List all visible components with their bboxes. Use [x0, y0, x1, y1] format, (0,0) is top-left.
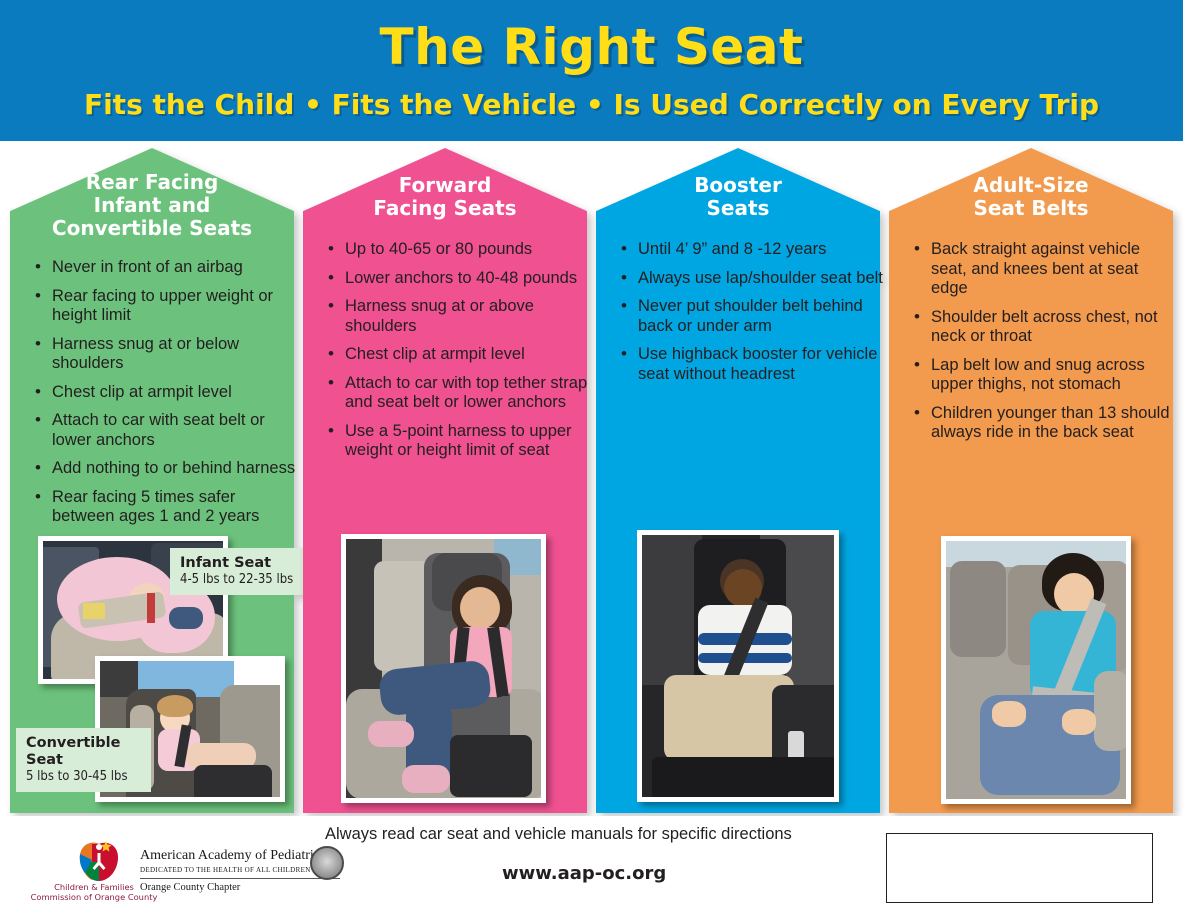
header-banner: The Right Seat Fits the Child • Fits the…	[0, 0, 1183, 141]
footer-note: Always read car seat and vehicle manuals…	[325, 825, 792, 844]
title-line: Seat Belts	[889, 197, 1173, 220]
forward-facing-seat-photo	[341, 534, 546, 803]
column-title-forward-facing: Forward Facing Seats	[303, 174, 587, 220]
column-adult-seat-belts[interactable]: Adult-Size Seat Belts Back straight agai…	[889, 148, 1173, 813]
list-item: Never in front of an airbag	[52, 258, 300, 278]
blank-info-box[interactable]	[886, 833, 1153, 903]
title-line: Convertible Seats	[10, 217, 294, 240]
column-title-adult-seat-belts: Adult-Size Seat Belts	[889, 174, 1173, 220]
list-item: Shoulder belt across chest, not neck or …	[931, 308, 1179, 347]
list-item: Add nothing to or behind harness	[52, 459, 300, 479]
column-title-booster: Booster Seats	[596, 174, 880, 220]
list-item: Until 4’ 9” and 8 -12 years	[638, 240, 886, 260]
aap-seal-icon	[310, 846, 344, 880]
aap-tagline: DEDICATED TO THE HEALTH OF ALL CHILDREN™	[140, 866, 318, 874]
bullet-list-adult-seat-belts: Back straight against vehicle seat, and …	[911, 240, 1179, 452]
caption-infant-seat: Infant Seat 4-5 lbs to 22-35 lbs	[170, 548, 310, 595]
cfc-apple-icon	[76, 840, 122, 882]
column-rear-facing[interactable]: Rear Facing Infant and Convertible Seats…	[10, 148, 294, 813]
bullet-list-forward-facing: Up to 40-65 or 80 pounds Lower anchors t…	[325, 240, 593, 470]
children-families-commission-logo: Children & Families Commission of Orange…	[30, 836, 158, 904]
column-booster[interactable]: Booster Seats Until 4’ 9” and 8 -12 year…	[596, 148, 880, 813]
caption-subtitle: 5 lbs to 30-45 lbs	[26, 769, 141, 784]
american-academy-pediatrics-logo: American Academy of Pediatrics DEDICATED…	[140, 848, 345, 900]
footer-url[interactable]: www.aap-oc.org	[502, 863, 666, 884]
list-item: Rear facing 5 times safer between ages 1…	[52, 488, 300, 527]
caption-title: Convertible	[26, 735, 141, 752]
title-line: Infant and	[10, 194, 294, 217]
adult-seat-belt-photo	[941, 536, 1131, 804]
list-item: Always use lap/shoulder seat belt	[638, 269, 886, 289]
title-line: Seats	[596, 197, 880, 220]
photo-scene-forward-facing	[346, 539, 541, 798]
list-item: Chest clip at armpit level	[52, 383, 300, 403]
title-line: Adult-Size	[889, 174, 1173, 197]
aap-divider	[140, 878, 340, 879]
list-item: Back straight against vehicle seat, and …	[931, 240, 1179, 299]
title-line: Facing Seats	[303, 197, 587, 220]
list-item: Lower anchors to 40-48 pounds	[345, 269, 593, 289]
list-item: Chest clip at armpit level	[345, 345, 593, 365]
list-item: Use highback booster for vehicle seat wi…	[638, 345, 886, 384]
column-title-rear-facing: Rear Facing Infant and Convertible Seats	[10, 171, 294, 240]
aap-chapter: Orange County Chapter	[140, 882, 240, 893]
list-item: Attach to car with seat belt or lower an…	[52, 411, 300, 450]
caption-subtitle: 4-5 lbs to 22-35 lbs	[180, 572, 300, 587]
list-item: Lap belt low and snug across upper thigh…	[931, 356, 1179, 395]
bullet-list-rear-facing: Never in front of an airbag Rear facing …	[32, 258, 300, 536]
list-item: Never put shoulder belt behind back or u…	[638, 297, 886, 336]
category-columns: Rear Facing Infant and Convertible Seats…	[0, 148, 1183, 816]
booster-seat-photo	[637, 530, 839, 802]
photo-scene-booster	[642, 535, 834, 797]
title-line: Rear Facing	[10, 171, 294, 194]
photo-scene-adult-belt	[946, 541, 1126, 799]
aap-name: American Academy of Pediatrics	[140, 848, 325, 864]
cfc-line-2: Commission of Orange County	[30, 892, 158, 902]
caption-convertible-seat: Convertible Seat 5 lbs to 30-45 lbs	[16, 728, 151, 792]
list-item: Rear facing to upper weight or height li…	[52, 287, 300, 326]
page-subtitle: Fits the Child • Fits the Vehicle • Is U…	[0, 88, 1183, 121]
title-line: Forward	[303, 174, 587, 197]
list-item: Up to 40-65 or 80 pounds	[345, 240, 593, 260]
caption-title: Infant Seat	[180, 555, 300, 572]
cfc-line-1: Children & Families	[30, 882, 158, 892]
list-item: Children younger than 13 should always r…	[931, 404, 1179, 443]
page-title: The Right Seat	[0, 18, 1183, 76]
list-item: Use a 5-point harness to upper weight or…	[345, 422, 593, 461]
list-item: Attach to car with top tether strap and …	[345, 374, 593, 413]
column-forward-facing[interactable]: Forward Facing Seats Up to 40-65 or 80 p…	[303, 148, 587, 813]
cfc-logo-text: Children & Families Commission of Orange…	[30, 882, 158, 902]
caption-title: Seat	[26, 752, 141, 769]
list-item: Harness snug at or above shoulders	[345, 297, 593, 336]
title-line: Booster	[596, 174, 880, 197]
bullet-list-booster: Until 4’ 9” and 8 -12 years Always use l…	[618, 240, 886, 393]
list-item: Harness snug at or below shoulders	[52, 335, 300, 374]
